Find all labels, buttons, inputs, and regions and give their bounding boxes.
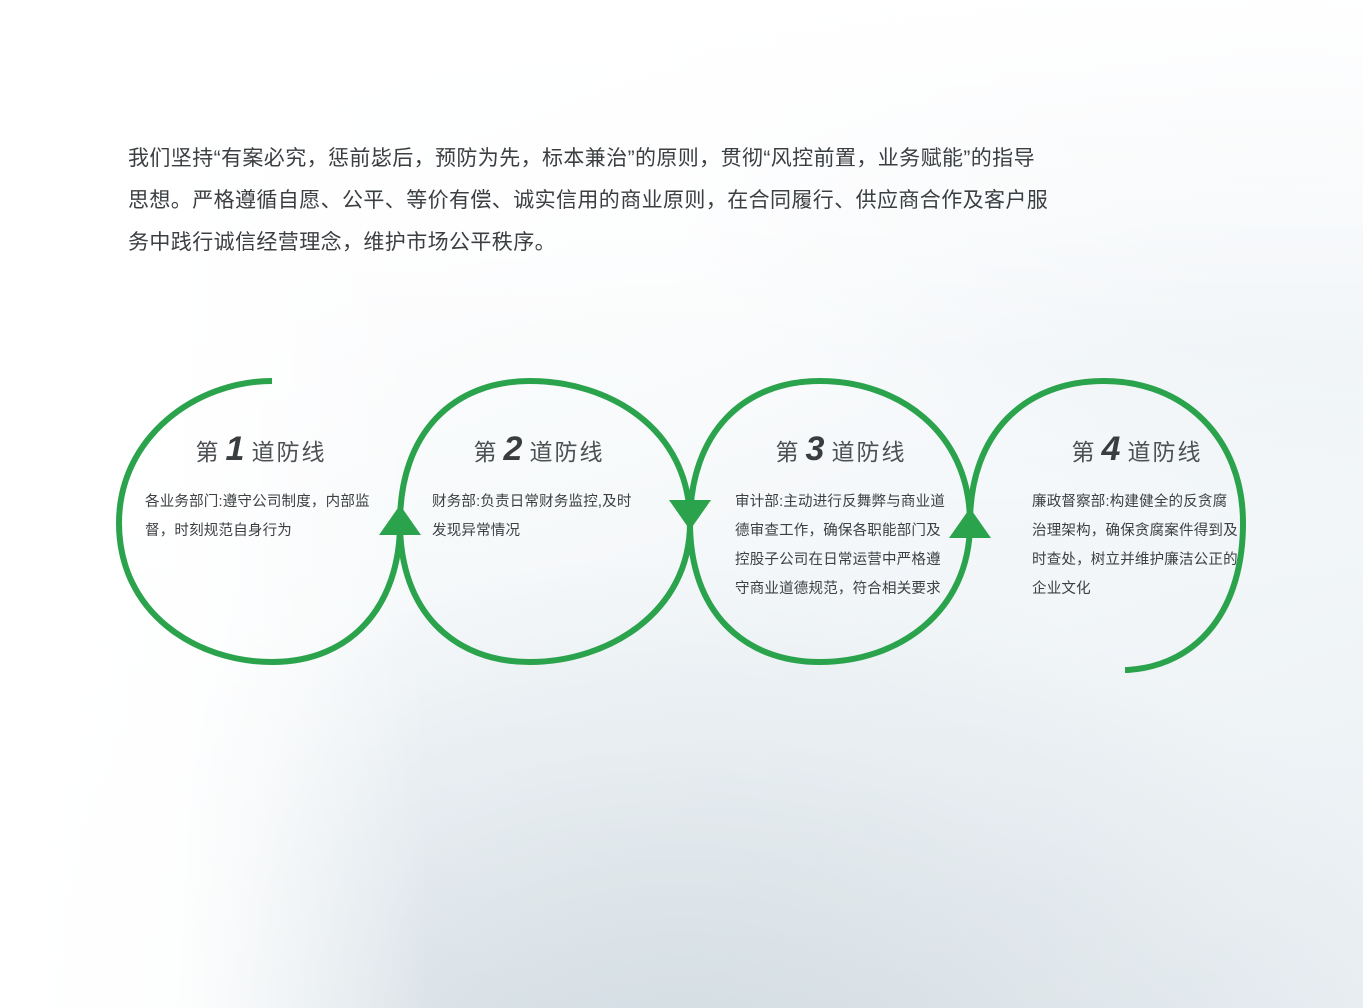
defense-line-3-number: 3 <box>801 430 832 468</box>
defense-line-4-body: 廉政督察部:构建健全的反贪腐治理架构，确保贪腐案件得到及时查处，树立并维护廉洁公… <box>1032 488 1242 604</box>
defense-line-1-number: 1 <box>221 430 252 468</box>
defense-line-4-title-prefix: 第 <box>1072 439 1097 465</box>
defense-line-4-title: 第4道防线 <box>1032 432 1242 466</box>
defense-line-2-body: 财务部:负责日常财务监控,及时发现异常情况 <box>432 488 646 546</box>
defense-line-node-3: 第3道防线 审计部:主动进行反舞弊与商业道德审查工作，确保各职能部门及控股子公司… <box>735 432 947 604</box>
defense-line-1-body: 各业务部门:遵守公司制度，内部监督，时刻规范自身行为 <box>145 488 383 546</box>
defense-line-node-1: 第1道防线 各业务部门:遵守公司制度，内部监督，时刻规范自身行为 <box>145 432 383 546</box>
defense-line-2-title-prefix: 第 <box>474 439 499 465</box>
defense-line-3-title-suffix: 道防线 <box>831 439 906 465</box>
defense-line-3-body: 审计部:主动进行反舞弊与商业道德审查工作，确保各职能部门及控股子公司在日常运营中… <box>735 488 947 604</box>
defense-line-3-title-prefix: 第 <box>776 439 801 465</box>
defense-line-1-title-prefix: 第 <box>196 439 221 465</box>
defense-line-2-number: 2 <box>499 430 530 468</box>
intro-paragraph: 我们坚持“有案必究，惩前毖后，预防为先，标本兼治”的原则，贯彻“风控前置，业务赋… <box>128 138 1188 264</box>
defense-line-node-4: 第4道防线 廉政督察部:构建健全的反贪腐治理架构，确保贪腐案件得到及时查处，树立… <box>1032 432 1242 604</box>
defense-line-2-title: 第2道防线 <box>432 432 646 466</box>
defense-line-node-2: 第2道防线 财务部:负责日常财务监控,及时发现异常情况 <box>432 432 646 546</box>
defense-line-4-title-suffix: 道防线 <box>1127 439 1202 465</box>
defense-line-4-number: 4 <box>1097 430 1128 468</box>
infographic-page: 我们坚持“有案必究，惩前毖后，预防为先，标本兼治”的原则，贯彻“风控前置，业务赋… <box>0 0 1363 1008</box>
defense-line-1-title: 第1道防线 <box>145 432 383 466</box>
defense-line-1-title-suffix: 道防线 <box>251 439 326 465</box>
defense-line-2-title-suffix: 道防线 <box>529 439 604 465</box>
defense-line-3-title: 第3道防线 <box>735 432 947 466</box>
